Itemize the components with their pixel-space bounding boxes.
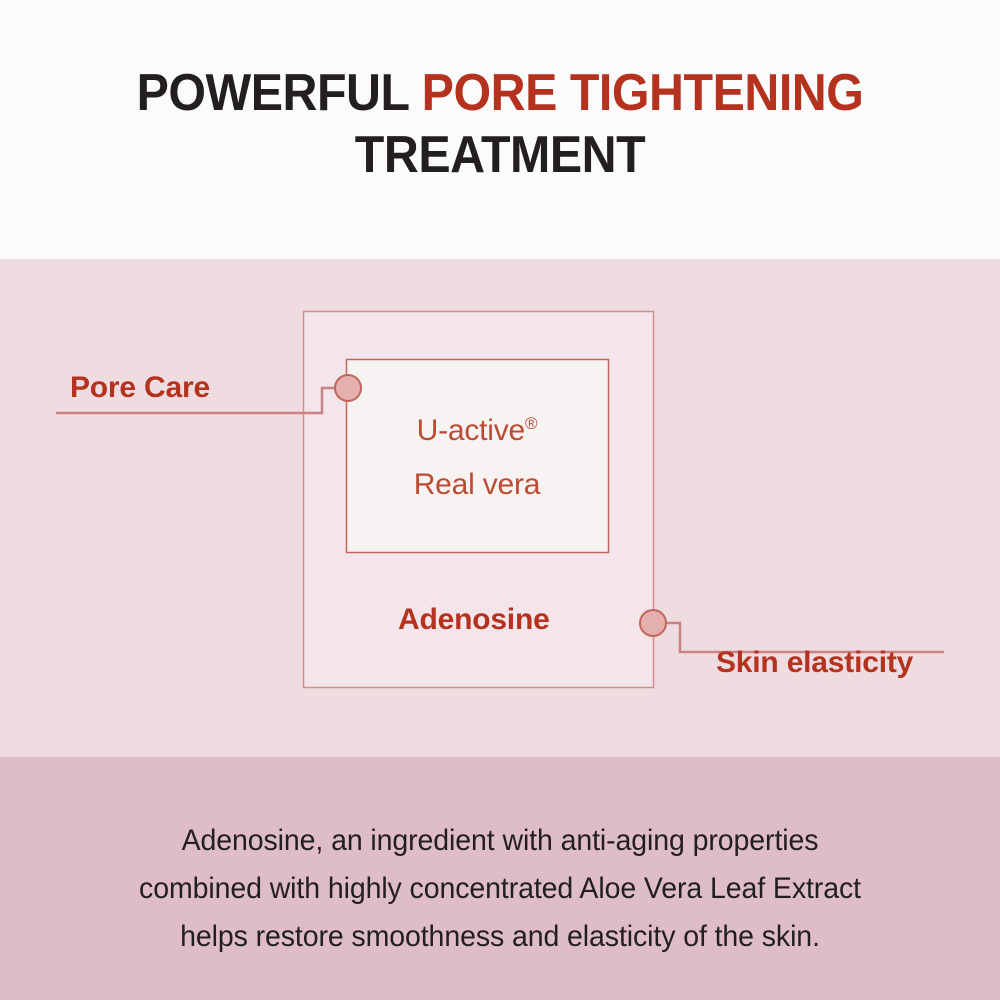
inner-box xyxy=(347,360,609,553)
diagram-band: Pore Care Skin elasticity booster Adenos… xyxy=(0,259,1000,757)
footer-band: Adenosine, an ingredient with anti-aging… xyxy=(0,757,1000,1000)
footer-line-1: Adenosine, an ingredient with anti-aging… xyxy=(25,817,975,865)
left-node-dot xyxy=(335,375,361,401)
footer-line-3: helps restore smoothness and elasticity … xyxy=(25,913,975,961)
diagram-graphics xyxy=(0,259,1000,757)
footer-description: Adenosine, an ingredient with anti-aging… xyxy=(25,817,975,961)
title-part-1: POWERFUL xyxy=(137,64,422,122)
title-line-2: TREATMENT xyxy=(35,124,965,186)
right-node-dot xyxy=(640,610,666,636)
footer-line-2: combined with highly concentrated Aloe V… xyxy=(25,865,975,913)
title-accent: PORE TIGHTENING xyxy=(422,64,864,122)
right-connector-line xyxy=(653,623,944,652)
infographic-page: POWERFUL PORE TIGHTENING TREATMENT Pore … xyxy=(0,0,1000,1000)
header-band: POWERFUL PORE TIGHTENING TREATMENT xyxy=(0,0,1000,259)
page-title: POWERFUL PORE TIGHTENING TREATMENT xyxy=(35,62,965,186)
